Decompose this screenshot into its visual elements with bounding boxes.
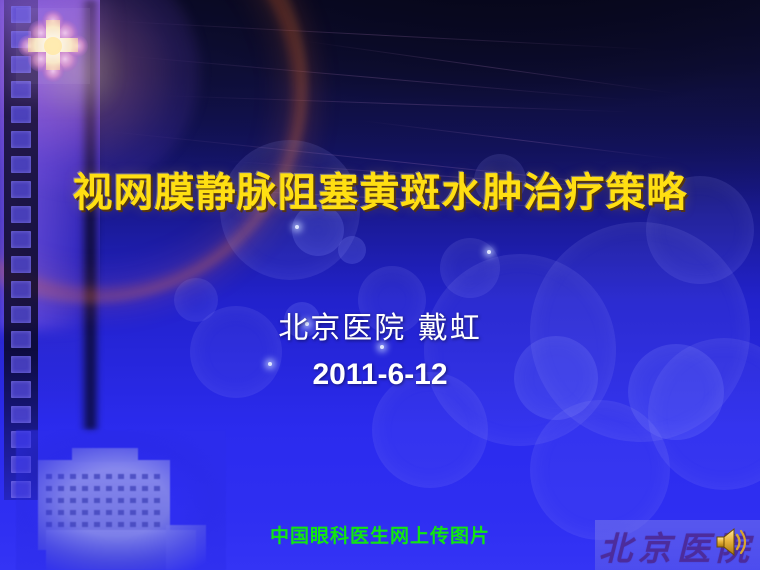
film-sprocket-hole <box>11 131 31 148</box>
film-sprocket-hole <box>11 231 31 248</box>
film-sprocket-hole <box>11 256 31 273</box>
bokeh-circle <box>338 236 366 264</box>
film-sprocket-hole <box>11 406 31 423</box>
film-sprocket-hole <box>11 106 31 123</box>
light-spark <box>295 225 299 229</box>
speaker-icon[interactable] <box>712 524 752 560</box>
presentation-slide: 视网膜静脉阻塞黄斑水肿治疗策略 北京医院 戴虹 2011-6-12 中国眼科医生… <box>0 0 760 570</box>
hospital-building-photo <box>16 430 226 570</box>
presentation-date: 2011-6-12 <box>0 358 760 392</box>
medical-cross-icon <box>16 8 90 84</box>
page-title: 视网膜静脉阻塞黄斑水肿治疗策略 <box>0 160 760 218</box>
film-sprocket-hole <box>11 281 31 298</box>
light-streak <box>360 120 678 160</box>
presenter-line: 北京医院 戴虹 <box>0 303 760 347</box>
bokeh-circle <box>530 400 670 540</box>
light-spark <box>487 250 491 254</box>
